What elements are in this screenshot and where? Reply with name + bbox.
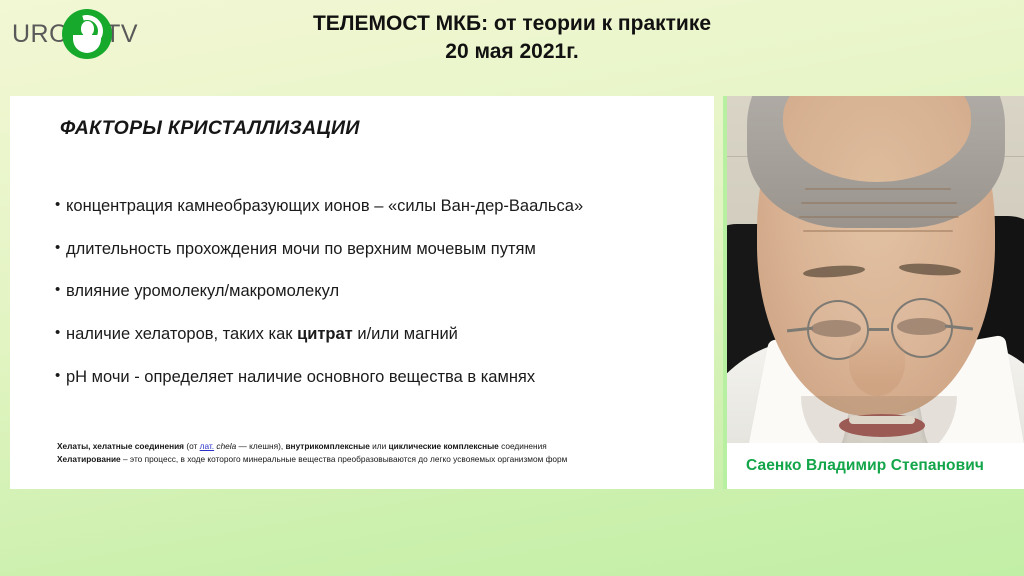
bullet-marker: •: [55, 281, 66, 300]
uro-emblem-icon: [62, 9, 112, 59]
bullet-list: • концентрация камнеобразующих ионов – «…: [55, 196, 700, 409]
list-item: • влияние уромолекул/макромолекул: [55, 281, 700, 302]
list-item-label: pH мочи - определяет наличие основного в…: [66, 367, 535, 388]
footnote-text-1a: (от: [184, 441, 200, 451]
bullet-marker: •: [55, 324, 66, 343]
presentation-slide: ФАКТОРЫ КРИСТАЛЛИЗАЦИИ • концентрация ка…: [10, 96, 714, 489]
list-item-label: наличие хелаторов, таких как цитрат и/ил…: [66, 324, 458, 345]
list-item-text-emphasis: цитрат: [297, 325, 353, 343]
nose: [849, 330, 905, 396]
bullet-marker: •: [55, 196, 66, 215]
list-item-label: концентрация камнеобразующих ионов – «си…: [66, 196, 583, 217]
footnote-text-1b: — клешня),: [236, 441, 285, 451]
slide-heading: ФАКТОРЫ КРИСТАЛЛИЗАЦИИ: [60, 117, 360, 140]
list-item: • наличие хелаторов, таких как цитрат и/…: [55, 324, 700, 345]
speaker-video-feed[interactable]: [727, 96, 1024, 443]
bullet-marker: •: [55, 239, 66, 258]
footnote-line-2: Хелатирование – это процесс, в ходе кото…: [57, 453, 704, 466]
footnote-term-3: циклические комплексные: [389, 441, 499, 451]
event-title-line2: 20 мая 2021г.: [0, 38, 1024, 66]
header-bar: URO TV ТЕЛЕМОСТ МКБ: от теории к практик…: [0, 0, 1024, 96]
footnote-text-1d: соединения: [499, 441, 547, 451]
list-item: • концентрация камнеобразующих ионов – «…: [55, 196, 700, 217]
speaker-name-label: Саенко Владимир Степанович: [727, 457, 984, 475]
footnote-term-2: внутрикомплексные: [285, 441, 369, 451]
footnote-text-1c: или: [370, 441, 389, 451]
bullet-marker: •: [55, 367, 66, 386]
footnote-text-2: – это процесс, в ходе которого минеральн…: [121, 454, 568, 464]
list-item-label: длительность прохождения мочи по верхним…: [66, 239, 536, 260]
speaker-name-bar: Саенко Владимир Степанович: [727, 443, 1024, 489]
speaker-video-panel[interactable]: Саенко Владимир Степанович: [723, 96, 1024, 489]
list-item-label: влияние уромолекул/макромолекул: [66, 281, 339, 302]
list-item-text-pre: наличие хелаторов, таких как: [66, 325, 297, 343]
list-item: • длительность прохождения мочи по верхн…: [55, 239, 700, 260]
footnote-latin-word: chela: [214, 441, 236, 451]
event-title-line1: ТЕЛЕМОСТ МКБ: от теории к практике: [0, 10, 1024, 38]
footnote-term-4: Хелатирование: [57, 454, 121, 464]
list-item-text-post: и/или магний: [353, 325, 458, 343]
event-title: ТЕЛЕМОСТ МКБ: от теории к практике 20 ма…: [0, 10, 1024, 65]
list-item: • pH мочи - определяет наличие основного…: [55, 367, 700, 388]
latin-source-link[interactable]: лат.: [200, 441, 214, 451]
footnote-term-1: Хелаты, хелатные соединения: [57, 441, 184, 451]
footnote-block: Хелаты, хелатные соединения (от лат. che…: [57, 440, 704, 466]
footnote-line-1: Хелаты, хелатные соединения (от лат. che…: [57, 440, 704, 453]
teeth: [849, 416, 915, 424]
screen: URO TV ТЕЛЕМОСТ МКБ: от теории к практик…: [0, 0, 1024, 576]
